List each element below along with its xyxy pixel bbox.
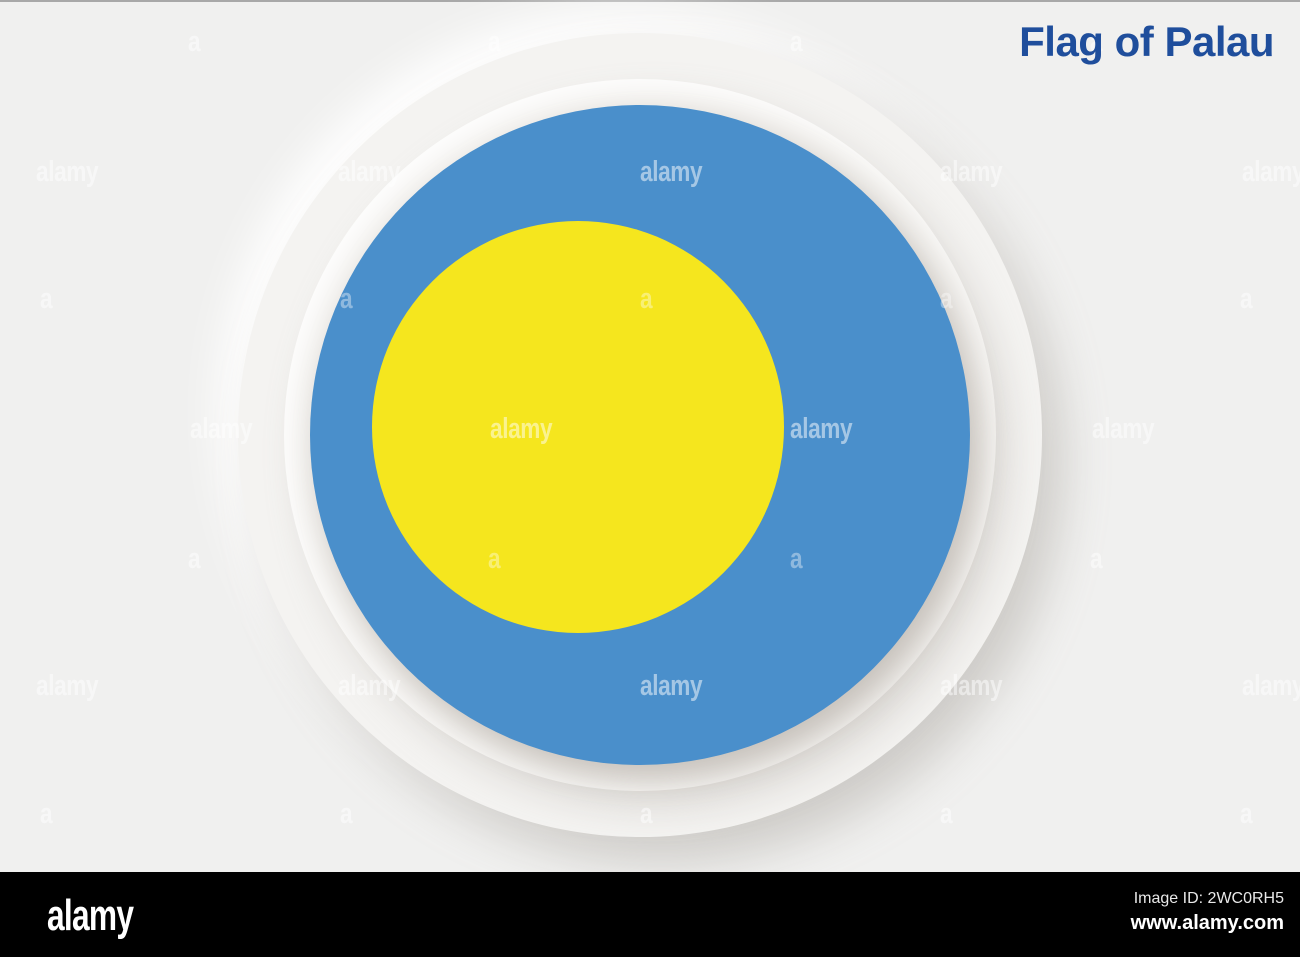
watermark-mark: a bbox=[40, 800, 52, 829]
watermark-mark: a bbox=[1090, 545, 1102, 574]
screenshot-root: a a a a alamy alamy alamy alamy alamy a … bbox=[0, 0, 1300, 957]
page-title: Flag of Palau bbox=[1019, 18, 1274, 66]
alamy-footer-bar: alamy Image ID: 2WC0RH5 www.alamy.com bbox=[0, 872, 1300, 957]
watermark-mark: a bbox=[340, 800, 352, 829]
watermark-mark: a bbox=[1240, 800, 1252, 829]
palau-flag-yellow-moon bbox=[372, 221, 784, 633]
watermark-mark: a bbox=[488, 28, 500, 57]
alamy-url: www.alamy.com bbox=[1131, 910, 1284, 937]
watermark-word: alamy bbox=[1242, 158, 1300, 187]
watermark-word: alamy bbox=[1092, 415, 1154, 444]
watermark-mark: a bbox=[40, 285, 52, 314]
watermark-word: alamy bbox=[1242, 672, 1300, 701]
watermark-mark: a bbox=[188, 545, 200, 574]
watermark-mark: a bbox=[790, 28, 802, 57]
watermark-word: alamy bbox=[36, 672, 98, 701]
image-canvas: a a a a alamy alamy alamy alamy alamy a … bbox=[0, 0, 1300, 872]
alamy-logo: alamy bbox=[47, 894, 133, 938]
footer-credit-block: Image ID: 2WC0RH5 www.alamy.com bbox=[1131, 888, 1284, 937]
watermark-mark: a bbox=[1240, 285, 1252, 314]
watermark-mark: a bbox=[940, 800, 952, 829]
watermark-word: alamy bbox=[36, 158, 98, 187]
watermark-mark: a bbox=[188, 28, 200, 57]
image-id-label: Image ID: 2WC0RH5 bbox=[1131, 888, 1284, 910]
